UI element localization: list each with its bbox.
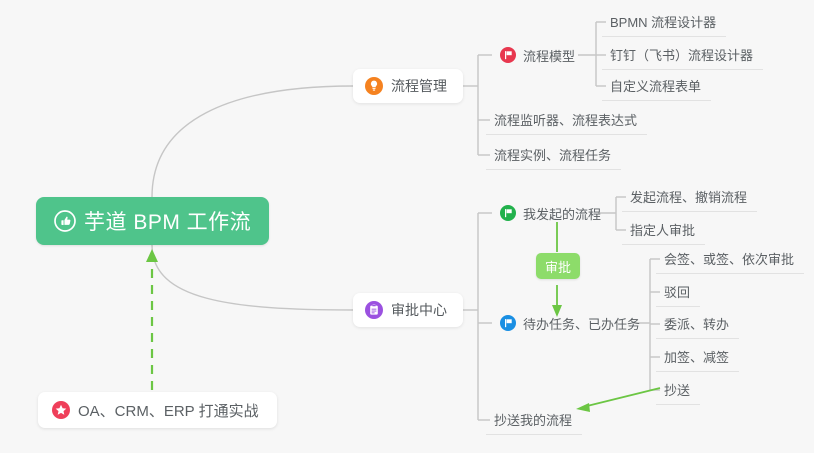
node-label: 钉钉（飞书）流程设计器 [610, 45, 753, 64]
node-label: 自定义流程表单 [610, 76, 701, 95]
branch-label: 流程管理 [391, 76, 447, 96]
annotation-card-integration[interactable]: OA、CRM、ERP 打通实战 [38, 392, 277, 428]
node-label: 驳回 [664, 282, 690, 301]
node-label: 待办任务、已办任务 [523, 314, 640, 333]
branch-process-management[interactable]: 流程管理 [353, 69, 463, 103]
node-label: 流程监听器、流程表达式 [494, 110, 637, 129]
tag-label: 审批 [545, 257, 571, 276]
node-add-remove-sign[interactable]: 加签、减签 [656, 342, 739, 372]
root-label: 芋道 BPM 工作流 [84, 206, 251, 236]
node-process-model[interactable]: 流程模型 [492, 40, 585, 70]
lightbulb-icon [365, 77, 383, 95]
arrow-cc-to-ccmine [583, 388, 660, 407]
node-label: 会签、或签、依次审批 [664, 249, 794, 268]
star-icon [52, 401, 70, 419]
node-reject[interactable]: 驳回 [656, 277, 700, 307]
root-node[interactable]: 芋道 BPM 工作流 [36, 197, 269, 245]
node-process-listener[interactable]: 流程监听器、流程表达式 [486, 105, 647, 135]
node-label: 加签、减签 [664, 347, 729, 366]
node-label: 指定人审批 [630, 220, 695, 239]
node-cc-to-me[interactable]: 抄送我的流程 [486, 405, 582, 435]
thumbs-up-icon [54, 210, 76, 232]
node-assignee-approval[interactable]: 指定人审批 [622, 215, 705, 245]
node-label: 流程实例、流程任务 [494, 145, 611, 164]
node-cc[interactable]: 抄送 [656, 375, 700, 405]
node-label: 抄送 [664, 380, 690, 399]
flag-icon [500, 315, 516, 331]
flag-icon [500, 205, 516, 221]
node-label: 流程模型 [523, 46, 575, 65]
node-start-cancel-process[interactable]: 发起流程、撤销流程 [622, 182, 757, 212]
dashed-link-float-to-root [146, 249, 158, 390]
node-countersign[interactable]: 会签、或签、依次审批 [656, 244, 804, 274]
node-label: 发起流程、撤销流程 [630, 187, 747, 206]
flag-icon [500, 47, 516, 63]
node-label: 抄送我的流程 [494, 410, 572, 429]
connector-root-to-process-mgmt [152, 86, 353, 197]
node-process-instance[interactable]: 流程实例、流程任务 [486, 140, 621, 170]
node-bpmn-designer[interactable]: BPMN 流程设计器 [602, 7, 726, 37]
connector-root-to-approval-center [152, 245, 353, 310]
node-my-started-processes[interactable]: 我发起的流程 [492, 198, 611, 228]
node-delegate-transfer[interactable]: 委派、转办 [656, 309, 739, 339]
mindmap-canvas: 芋道 BPM 工作流 流程管理 流程模型 BPMN 流程设计器 钉钉（飞书）流程 [0, 0, 814, 453]
node-label: 我发起的流程 [523, 204, 601, 223]
node-label: BPMN 流程设计器 [610, 12, 716, 31]
clipboard-icon [365, 301, 383, 319]
branch-approval-center[interactable]: 审批中心 [353, 293, 463, 327]
node-todo-done-tasks[interactable]: 待办任务、已办任务 [492, 308, 650, 338]
node-dingtalk-designer[interactable]: 钉钉（飞书）流程设计器 [602, 40, 763, 70]
node-custom-form[interactable]: 自定义流程表单 [602, 71, 711, 101]
branch-label: 审批中心 [391, 300, 447, 320]
card-label: OA、CRM、ERP 打通实战 [78, 400, 259, 421]
node-label: 委派、转办 [664, 314, 729, 333]
annotation-tag-approval[interactable]: 审批 [536, 253, 580, 279]
